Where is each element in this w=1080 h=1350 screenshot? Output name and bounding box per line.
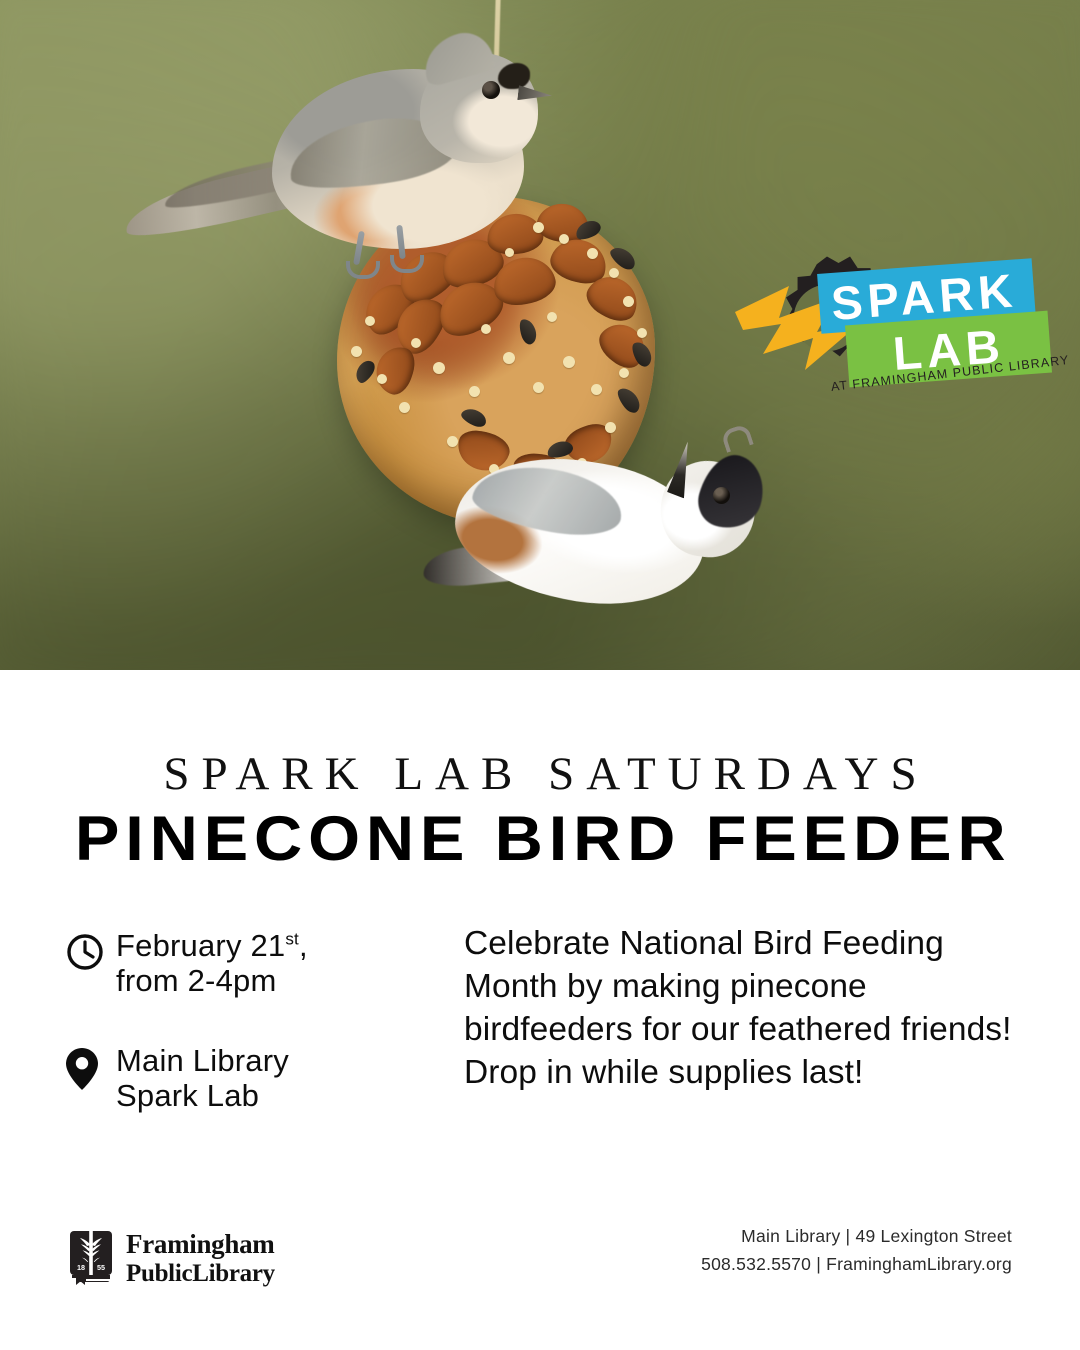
- svg-text:18: 18: [77, 1263, 85, 1272]
- detail-location-line1: Main Library: [116, 1043, 289, 1078]
- millet-seed: [533, 382, 544, 393]
- millet-seed: [619, 368, 629, 378]
- millet-seed: [587, 248, 598, 259]
- millet-seed: [605, 422, 616, 433]
- millet-seed: [399, 402, 410, 413]
- millet-seed: [377, 374, 387, 384]
- hero-photo: SPARK LAB AT FRAMINGHAM PUBLIC LIBRARY: [0, 0, 1080, 670]
- framingham-public-library-logo: 18 55 Framingham PublicLibrary: [68, 1230, 275, 1286]
- detail-date-main: February 21: [116, 928, 285, 963]
- millet-seed: [411, 338, 421, 348]
- location-pin-icon: [66, 1043, 116, 1090]
- spark-lab-logo: SPARK LAB AT FRAMINGHAM PUBLIC LIBRARY: [735, 252, 1050, 422]
- event-details: February 21st, from 2-4pm Main Library S…: [66, 928, 446, 1157]
- detail-text-datetime: February 21st, from 2-4pm: [116, 928, 308, 999]
- millet-seed: [503, 352, 515, 364]
- millet-seed: [637, 328, 647, 338]
- millet-seed: [547, 312, 557, 322]
- detail-date-comma: ,: [299, 928, 308, 963]
- titmouse-foot: [390, 255, 424, 273]
- detail-location-line2: Spark Lab: [116, 1078, 259, 1113]
- svg-text:55: 55: [97, 1263, 105, 1272]
- page-title: PINECONE BIRD FEEDER: [0, 803, 1080, 875]
- detail-date-suffix: st: [285, 930, 299, 949]
- titmouse-foot: [346, 261, 380, 279]
- nuthatch-eye: [713, 487, 730, 504]
- detail-row-location: Main Library Spark Lab: [66, 1043, 446, 1114]
- millet-seed: [623, 296, 634, 307]
- poster-content: SPARK LAB SATURDAYS PINECONE BIRD FEEDER…: [0, 670, 1080, 1350]
- book-with-tree-icon: 18 55: [68, 1230, 114, 1286]
- clock-icon: [66, 928, 116, 971]
- white-breasted-nuthatch-bird: [425, 435, 770, 650]
- detail-time: from 2-4pm: [116, 963, 276, 998]
- titmouse-eye: [482, 81, 500, 99]
- millet-seed: [609, 268, 619, 278]
- contact-info: Main Library | 49 Lexington Street 508.5…: [701, 1222, 1012, 1279]
- millet-seed: [433, 362, 445, 374]
- detail-text-location: Main Library Spark Lab: [116, 1043, 289, 1114]
- millet-seed: [563, 356, 575, 368]
- detail-row-datetime: February 21st, from 2-4pm: [66, 928, 446, 999]
- millet-seed: [591, 384, 602, 395]
- series-eyebrow: SPARK LAB SATURDAYS: [0, 747, 1080, 801]
- contact-phone-web: 508.532.5570 | FraminghamLibrary.org: [701, 1250, 1012, 1278]
- millet-seed: [481, 324, 491, 334]
- library-name-line2: PublicLibrary: [126, 1261, 275, 1286]
- tufted-titmouse-bird: [120, 25, 550, 285]
- event-description: Celebrate National Bird Feeding Month by…: [464, 923, 1024, 1095]
- millet-seed: [469, 386, 480, 397]
- millet-seed: [365, 316, 375, 326]
- titmouse-forehead-patch: [498, 63, 530, 89]
- library-wordmark: Framingham PublicLibrary: [126, 1231, 275, 1286]
- contact-address: Main Library | 49 Lexington Street: [701, 1222, 1012, 1250]
- library-name-line1: Framingham: [126, 1231, 275, 1258]
- millet-seed: [351, 346, 362, 357]
- millet-seed: [559, 234, 569, 244]
